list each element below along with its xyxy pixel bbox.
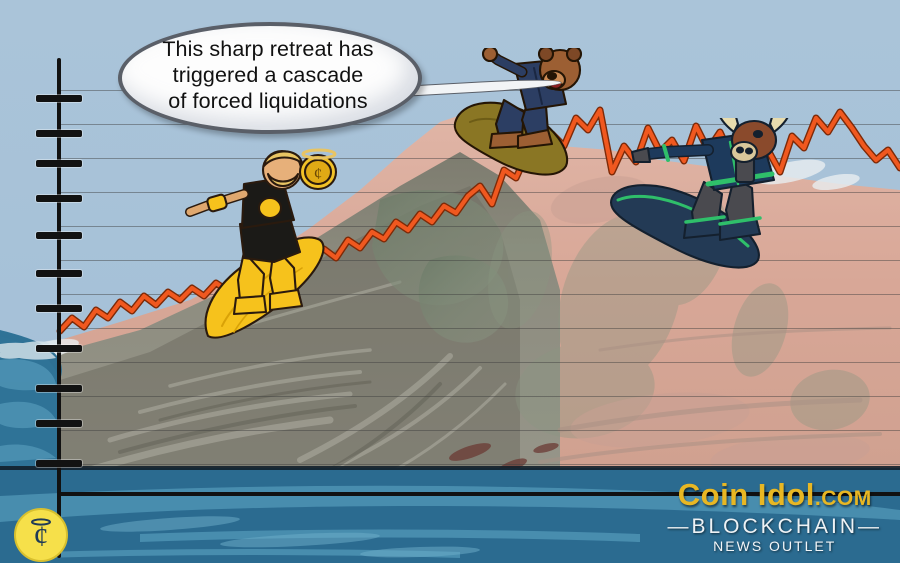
y-axis-tick-0 xyxy=(36,95,82,102)
bull-glove xyxy=(632,148,650,162)
speech-bubble-text: This sharp retreat has triggered a casca… xyxy=(126,33,410,117)
y-axis-tick-2 xyxy=(36,160,82,167)
illustration-canvas: ¢ xyxy=(0,0,900,563)
bull-muzzle xyxy=(731,142,757,162)
y-axis-tick-6 xyxy=(36,305,82,312)
coin-glyph: ¢ xyxy=(34,520,49,553)
bull-horn-left xyxy=(717,118,738,132)
brand-subtitle: —BLOCKCHAIN— xyxy=(667,515,882,538)
surfer-wristband xyxy=(206,194,227,212)
brand-sub-text: BLOCKCHAIN xyxy=(691,515,858,538)
brand-domain: .COM xyxy=(815,487,872,510)
y-axis-ticks xyxy=(0,0,120,563)
y-axis-tick-1 xyxy=(36,130,82,137)
bear-fist xyxy=(483,48,497,61)
y-axis-tick-8 xyxy=(36,385,82,392)
blonde-surfer: ¢ xyxy=(178,140,348,345)
y-axis-tick-10 xyxy=(36,460,82,467)
surfer-boot-back xyxy=(234,296,266,314)
bubble-line-2: triggered a cascade xyxy=(173,62,364,88)
y-axis-tick-5 xyxy=(36,270,82,277)
svg-text:¢: ¢ xyxy=(314,164,323,183)
bull-surfer xyxy=(608,118,793,293)
coinidol-coin-icon: ¢ xyxy=(14,508,68,562)
coinidol-brand: Coin Idol.COM —BLOCKCHAIN— NEWS OUTLET xyxy=(667,479,882,555)
y-axis-tick-9 xyxy=(36,420,82,427)
bubble-line-1: This sharp retreat has xyxy=(162,36,373,62)
brand-tagline: NEWS OUTLET xyxy=(667,538,882,555)
brand-name: Coin Idol.COM xyxy=(667,479,882,515)
bull-horn-right xyxy=(770,118,791,132)
bear-ear-right xyxy=(567,48,581,61)
bear-surfer xyxy=(448,48,608,208)
bubble-line-3: of forced liquidations xyxy=(168,88,367,114)
bear-ear-left xyxy=(539,48,553,61)
y-axis-tick-7 xyxy=(36,345,82,352)
surfer-chest-emblem xyxy=(259,198,281,218)
brand-main-text: Coin Idol xyxy=(678,477,815,512)
y-axis-tick-4 xyxy=(36,232,82,239)
surfer-boot-front xyxy=(270,290,302,310)
y-axis-tick-3 xyxy=(36,195,82,202)
